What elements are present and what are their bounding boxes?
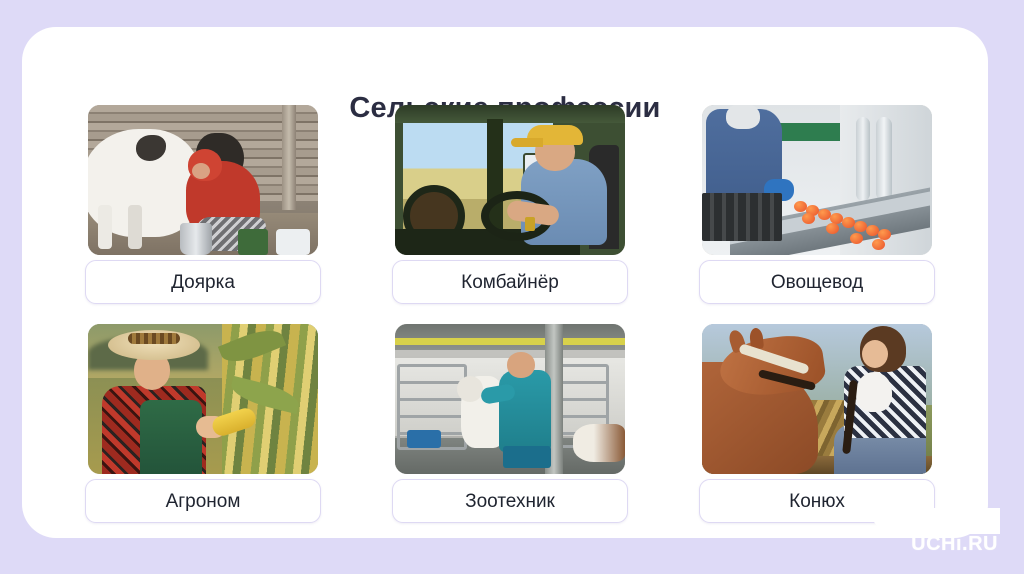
profession-label-card-4[interactable]: Агроном (85, 479, 321, 523)
profession-cell-1[interactable]: Доярка (85, 105, 321, 323)
profession-photo-4 (88, 324, 318, 474)
profession-cell-4[interactable]: Агроном (85, 324, 321, 538)
slide-card: Сельские профессии Доярка (22, 27, 988, 538)
profession-photo-6 (702, 324, 932, 474)
profession-cell-5[interactable]: Зоотехник (392, 324, 628, 538)
watermark-text: UCHi.RU (911, 533, 998, 556)
profession-photo-5 (395, 324, 625, 474)
profession-photo-2 (395, 105, 625, 255)
profession-label-card-3[interactable]: Овощевод (699, 260, 935, 304)
profession-photo-1 (88, 105, 318, 255)
watermark: UCHi.RU (856, 508, 1006, 564)
profession-label-3: Овощевод (771, 273, 863, 292)
profession-cell-3[interactable]: Овощевод (699, 105, 935, 323)
profession-grid: Доярка Комбайнёр (85, 105, 943, 538)
profession-label-card-2[interactable]: Комбайнёр (392, 260, 628, 304)
profession-label-card-5[interactable]: Зоотехник (392, 479, 628, 523)
profession-label-5: Зоотехник (465, 492, 555, 511)
watermark-swoosh-icon (870, 508, 1000, 534)
profession-label-2: Комбайнёр (461, 273, 559, 292)
profession-cell-2[interactable]: Комбайнёр (392, 105, 628, 323)
profession-photo-3 (702, 105, 932, 255)
profession-label-6: Конюх (789, 492, 845, 511)
profession-label-card-1[interactable]: Доярка (85, 260, 321, 304)
profession-label-1: Доярка (171, 273, 235, 292)
profession-cell-6[interactable]: Конюх (699, 324, 935, 538)
profession-label-4: Агроном (166, 492, 241, 511)
